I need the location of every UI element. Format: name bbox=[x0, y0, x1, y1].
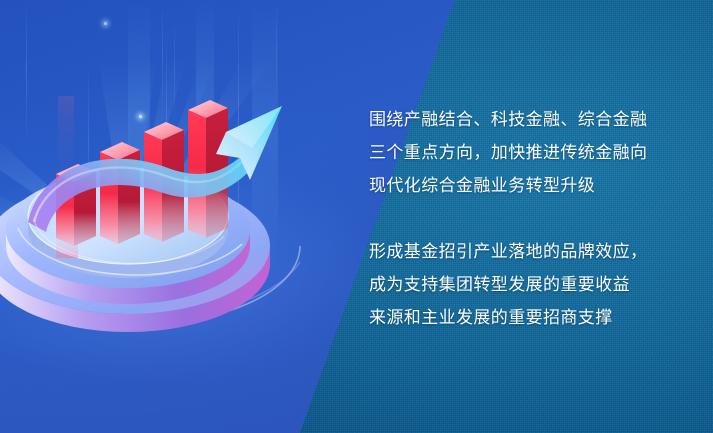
paragraph-1-line-1: 围绕产融结合、科技金融、综合金融 bbox=[369, 103, 679, 136]
paragraph-spacer bbox=[369, 202, 679, 235]
paragraph-2-line-3: 来源和主业发展的重要招商支撑 bbox=[369, 301, 679, 334]
slide-canvas: 围绕产融结合、科技金融、综合金融 三个重点方向，加快推进传统金融向 现代化综合金… bbox=[0, 0, 713, 433]
paragraph-2-line-2: 成为支持集团转型发展的重要收益 bbox=[369, 268, 679, 301]
growth-chart-illustration bbox=[0, 96, 320, 356]
text-content-block: 围绕产融结合、科技金融、综合金融 三个重点方向，加快推进传统金融向 现代化综合金… bbox=[369, 103, 679, 334]
bar-2 bbox=[100, 142, 140, 244]
paragraph-2-line-1: 形成基金招引产业落地的品牌效应， bbox=[369, 235, 679, 268]
paragraph-1-line-2: 三个重点方向，加快推进传统金融向 bbox=[369, 136, 679, 169]
bar-light-beams bbox=[58, 96, 74, 176]
paragraph-1-line-3: 现代化综合金融业务转型升级 bbox=[369, 169, 679, 202]
